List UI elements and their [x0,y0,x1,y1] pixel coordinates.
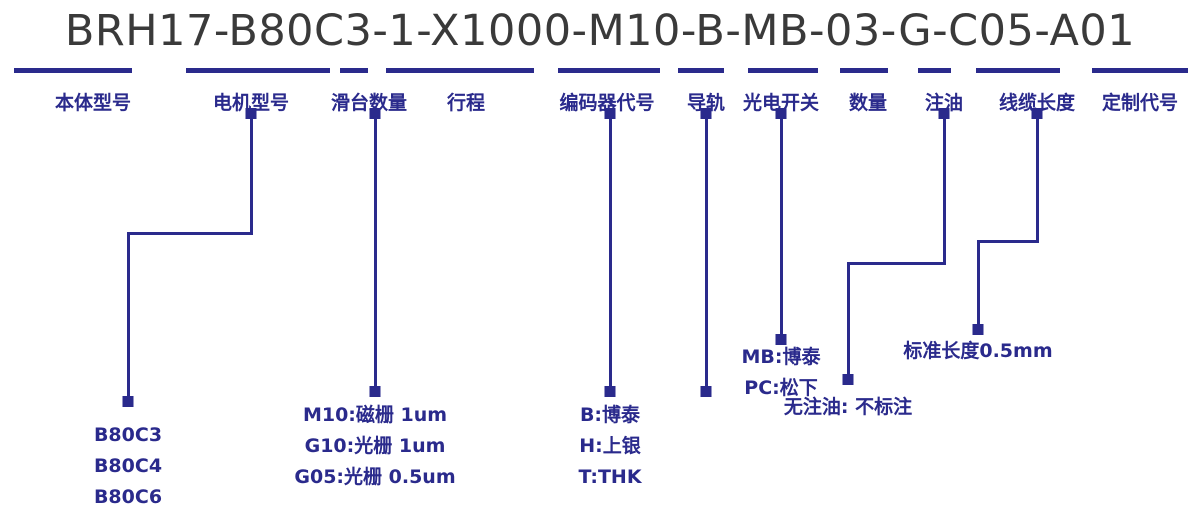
leader-horizontal-body-model [127,232,253,235]
leader-endpoint-marker-oiling [843,374,854,385]
leader-vertical-bottom-slide-count [374,232,377,386]
callout-value: T:THK [578,462,641,493]
leader-vertical-bottom-body-model [127,232,130,396]
callout-value: MB:博泰 [742,342,821,373]
underline-tick-9 [976,68,1060,73]
underline-tick-1 [186,68,330,73]
leader-endpoint-marker-encoder-code [605,386,616,397]
leader-vertical-top-rail [705,112,708,262]
callout-value: G10:光栅 1um [294,431,455,462]
underline-tick-0 [14,68,132,73]
model-code-breakdown-diagram: BRH17-B80C3-1-X1000-M10-B-MB-03-G-C05-A0… [0,0,1200,514]
callout-value: 标准长度0.5mm [903,336,1052,367]
callout-rail: B:博泰H:上银T:THK [578,400,641,493]
underline-tick-3 [386,68,534,73]
callout-body-model: B80C3B80C4B80C6 [94,420,162,513]
callout-value: B80C4 [94,451,162,482]
underline-tick-7 [840,68,888,73]
leader-endpoint-marker-cable-length [973,324,984,335]
callout-value: M10:磁栅 1um [294,400,455,431]
callout-oiling: 无注油: 不标注 [784,392,912,423]
callout-value: B80C3 [94,420,162,451]
column-label-10: 定制代号 [1102,88,1178,115]
column-label-0: 本体型号 [55,88,131,115]
callout-encoder: M10:磁栅 1umG10:光栅 1umG05:光栅 0.5um [294,400,455,493]
leader-endpoint-marker-body-model [123,396,134,407]
leader-endpoint-marker-rail [701,386,712,397]
leader-horizontal-oiling [847,262,946,265]
callout-value: H:上银 [578,431,641,462]
callout-value: B:博泰 [578,400,641,431]
leader-vertical-top-photo-switch [780,112,783,262]
leader-vertical-bottom-cable-length [977,240,980,324]
underline-tick-5 [678,68,724,73]
leader-vertical-top-slide-count [374,112,377,232]
model-code-text: BRH17-B80C3-1-X1000-M10-B-MB-03-G-C05-A0… [0,0,1200,62]
leader-vertical-top-oiling [943,112,946,262]
leader-vertical-bottom-encoder-code [609,266,612,386]
underline-tick-6 [748,68,818,73]
underline-tick-4 [558,68,660,73]
callout-value: G05:光栅 0.5um [294,462,455,493]
leader-horizontal-cable-length [977,240,1039,243]
underline-tick-8 [918,68,951,73]
underline-tick-2 [340,68,368,73]
leader-vertical-top-body-model [250,112,253,232]
leader-vertical-bottom-rail [705,262,708,386]
underline-tick-10 [1092,68,1188,73]
leader-vertical-bottom-oiling [847,262,850,374]
callout-value: 无注油: 不标注 [784,392,912,423]
leader-vertical-top-encoder-code [609,112,612,266]
leader-vertical-bottom-photo-switch [780,262,783,334]
leader-endpoint-marker-slide-count [370,386,381,397]
callout-value: B80C6 [94,482,162,513]
column-label-3: 行程 [447,88,485,115]
column-label-7: 数量 [849,88,887,115]
leader-vertical-top-cable-length [1036,112,1039,240]
callout-cable: 标准长度0.5mm [903,336,1052,367]
